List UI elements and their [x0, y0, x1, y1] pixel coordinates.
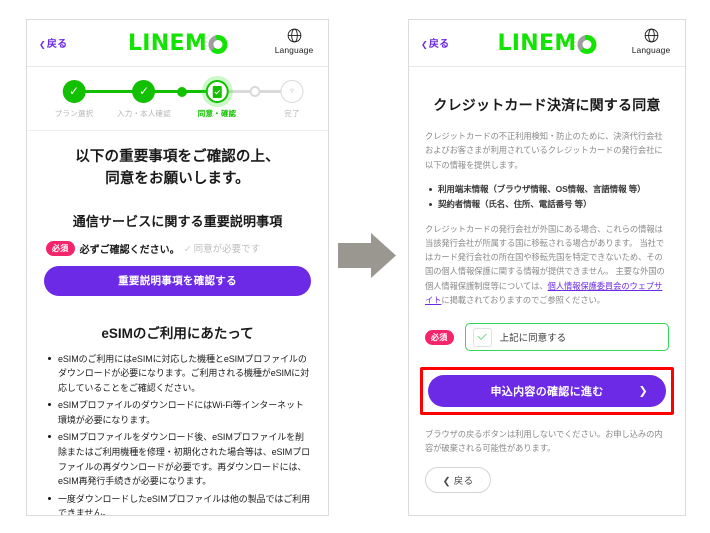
left-language-switcher[interactable]: Language — [272, 27, 316, 55]
trophy-icon: ♆ — [281, 80, 304, 103]
stepper-step-complete[interactable]: ♆ 完了 — [281, 80, 304, 119]
section-title-esim: eSIMのご利用にあたって — [44, 322, 311, 342]
stepper-label-plan: プラン選択 — [55, 108, 94, 119]
right-back-link[interactable]: ❮戻る — [421, 35, 449, 50]
document-check-icon — [206, 80, 229, 103]
consent-para2-a: クレジットカードの発行会社が外国にある場合、これらの情報は当該発行会社が所属する… — [425, 224, 663, 248]
right-arrow-icon — [338, 233, 396, 278]
consent-paragraph-2: クレジットカードの発行会社が外国にある場合、これらの情報は当該発行会社が所属する… — [425, 222, 669, 308]
stepper-label-complete: 完了 — [281, 108, 304, 119]
left-back-link[interactable]: ❮戻る — [39, 35, 67, 50]
list-item: 一度ダウンロードしたeSIMプロファイルは他の製品ではご利用できません。 — [58, 492, 311, 516]
left-page-heading: 以下の重要事項をご確認の上、 同意をお願いします。 — [44, 147, 311, 191]
right-language-label: Language — [629, 45, 673, 55]
left-heading-line2: 同意をお願いします。 — [44, 169, 311, 191]
required-notice-row: 必須 必ずご確認ください。 ✓同意が必要です — [46, 241, 311, 256]
linemo-o-mark-icon — [208, 35, 227, 54]
proceed-to-confirmation-button[interactable]: 申込内容の確認に進む ❯ — [428, 375, 666, 407]
back-button-label: 戻る — [454, 476, 474, 487]
provided-info-list: 利用端末情報（ブラウザ情報、OS情報、言語情報 等） 契約者情報（氏名、住所、電… — [425, 182, 669, 212]
list-item: eSIMプロファイルをダウンロード後、eSIMプロファイルを削除またはご利用機種… — [58, 430, 311, 488]
stepper-step-input[interactable]: ✓ 入力・本人確認 — [117, 80, 171, 119]
left-back-label: 戻る — [47, 39, 67, 50]
stepper-pending-dot — [250, 80, 261, 97]
logo-wordmark: LINEM — [128, 33, 207, 55]
right-back-label: 戻る — [429, 39, 449, 50]
left-language-label: Language — [272, 45, 316, 55]
agree-checkbox-label: 上記に同意する — [500, 330, 567, 344]
browser-back-warning: ブラウザの戻るボタンは利用しないでください。お申し込みの内容が破棄される可能性が… — [425, 427, 669, 456]
screenshot-stage: ❮戻る LINEM Language ✓ プラン選択 — [0, 0, 710, 533]
agreement-needed-note: ✓同意が必要です — [184, 241, 260, 255]
credit-card-consent-title: クレジットカード決済に関する同意 — [425, 95, 669, 115]
chevron-right-icon: ❯ — [638, 385, 648, 398]
left-phone-panel: ❮戻る LINEM Language ✓ プラン選択 — [26, 19, 329, 516]
cta-highlight-wrapper: 申込内容の確認に進む ❯ — [425, 367, 669, 415]
agreement-needed-label: 同意が必要です — [194, 244, 261, 255]
logo-wordmark: LINEM — [497, 33, 576, 55]
globe-icon — [286, 27, 303, 44]
section-title-telecom: 通信サービスに関する重要説明事項 — [44, 211, 311, 230]
left-body: 以下の重要事項をご確認の上、 同意をお願いします。 通信サービスに関する重要説明… — [27, 147, 328, 516]
chevron-left-icon: ❮ — [421, 40, 428, 49]
right-phone-panel: ❮戻る LINEM Language クレジットカード決済に関する同意 クレジッ… — [408, 19, 686, 516]
list-item: eSIMプロファイルのダウンロードにはWi-Fi等インターネット環境が必要になり… — [58, 398, 311, 427]
progress-stepper: ✓ プラン選択 ✓ 入力・本人確認 同意・確認 ♆ 完了 — [27, 76, 328, 131]
left-heading-line1: 以下の重要事項をご確認の上、 — [44, 147, 311, 169]
linemo-logo: LINEM — [128, 33, 227, 55]
pending-dot-icon — [250, 86, 261, 97]
agree-checkbox-container[interactable]: 上記に同意する — [465, 323, 669, 351]
confirm-important-matters-button[interactable]: 重要説明事項を確認する — [44, 266, 311, 296]
stepper-label-confirm: 同意・確認 — [198, 108, 237, 119]
right-body: クレジットカード決済に関する同意 クレジットカードの不正利用検知・防止のために、… — [409, 95, 685, 493]
right-language-switcher[interactable]: Language — [629, 27, 673, 55]
esim-bullet-list: eSIMのご利用にはeSIMに対応した機種とeSIMプロファイルのダウンロードが… — [44, 352, 311, 517]
check-icon: ✓ — [63, 80, 86, 103]
consent-para2-d: に掲載されておりますのでご参照ください。 — [441, 295, 604, 305]
chevron-left-icon: ❮ — [443, 476, 451, 487]
progress-dot-icon — [177, 87, 187, 97]
consent-paragraph-1: クレジットカードの不正利用検知・防止のために、決済代行会社およびお客さまが利用さ… — [425, 129, 669, 172]
chevron-left-icon: ❮ — [39, 40, 46, 49]
left-header-bar: ❮戻る LINEM Language — [27, 20, 328, 67]
required-text: 必ずご確認ください。 — [80, 241, 180, 256]
linemo-logo: LINEM — [497, 33, 596, 55]
cta-label: 申込内容の確認に進む — [491, 386, 604, 398]
list-item: 契約者情報（氏名、住所、電話番号 等） — [438, 197, 669, 212]
agreement-row: 必須 上記に同意する — [425, 323, 669, 351]
check-small-icon: ✓ — [184, 244, 192, 255]
list-item: eSIMのご利用にはeSIMに対応した機種とeSIMプロファイルのダウンロードが… — [58, 352, 311, 396]
back-button[interactable]: ❮ 戻る — [425, 467, 491, 493]
globe-icon — [643, 27, 660, 44]
required-badge: 必須 — [46, 241, 75, 256]
spacer — [44, 296, 311, 322]
stepper-label-input: 入力・本人確認 — [117, 108, 171, 119]
stepper-step-plan[interactable]: ✓ プラン選択 — [55, 80, 94, 119]
checkmark-icon[interactable] — [473, 328, 492, 347]
linemo-o-mark-icon — [578, 35, 597, 54]
required-badge: 必須 — [425, 330, 454, 345]
list-item: 利用端末情報（ブラウザ情報、OS情報、言語情報 等） — [438, 182, 669, 197]
stepper-step-confirm[interactable]: 同意・確認 — [198, 80, 237, 119]
stepper-midpoint-dot — [177, 80, 187, 97]
check-icon: ✓ — [133, 80, 156, 103]
right-header-bar: ❮戻る LINEM Language — [409, 20, 685, 67]
